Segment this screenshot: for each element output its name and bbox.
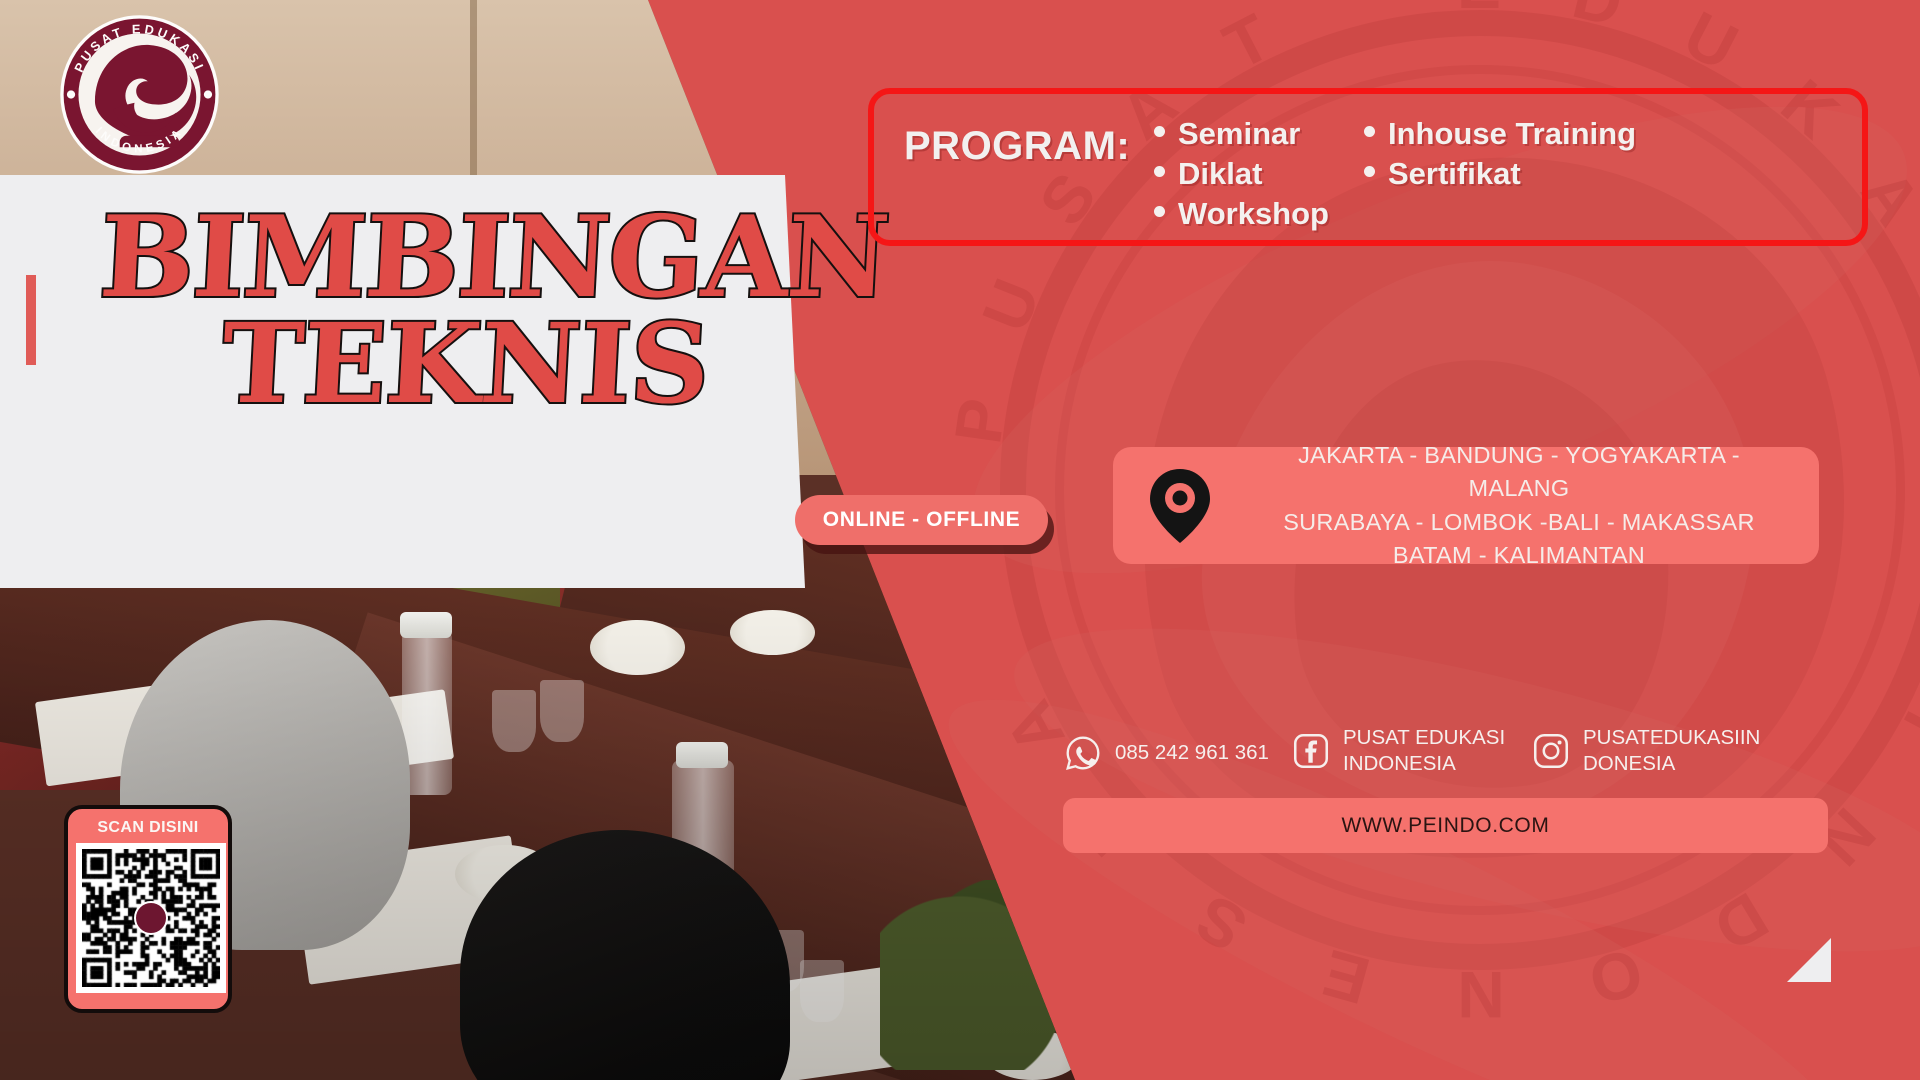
program-label: PROGRAM: [904, 124, 1130, 169]
qr-card[interactable]: SCAN DISINI [64, 805, 232, 1013]
brand-logo: PUSAT EDUKASI INDONESIA [57, 12, 222, 177]
whatsapp-number: 085 242 961 361 [1115, 740, 1269, 766]
bullet-icon [1154, 206, 1165, 217]
instagram-handle-line2: DONESIA [1583, 752, 1675, 775]
program-item-label: Seminar [1178, 118, 1300, 150]
website-url: WWW.PEINDO.COM [1342, 814, 1550, 838]
page-title-line1: BIMBINGAN [97, 205, 890, 310]
contact-whatsapp[interactable]: 085 242 961 361 [1065, 735, 1269, 771]
qr-code[interactable] [76, 843, 226, 993]
locations-card: JAKARTA - BANDUNG - YOGYAKARTA - MALANG … [1113, 447, 1819, 564]
poster-canvas: PUSATEDUKASI INDONESIA BIMBING [0, 0, 1920, 1080]
bullet-icon [1154, 166, 1165, 177]
mode-badge-label: ONLINE - OFFLINE [823, 508, 1020, 532]
facebook-handle-line1: PUSAT EDUKASI [1343, 726, 1505, 749]
program-column-2: Inhouse Training Sertifikat [1364, 118, 1636, 198]
program-item-label: Inhouse Training [1388, 118, 1636, 150]
contacts-row: 085 242 961 361 PUSAT EDUKASI INDONESIA [1065, 725, 1825, 787]
contact-facebook[interactable]: PUSAT EDUKASI INDONESIA [1293, 725, 1505, 777]
locations-text: JAKARTA - BANDUNG - YOGYAKARTA - MALANG … [1245, 439, 1819, 572]
program-item-label: Sertifikat [1388, 158, 1521, 190]
whatsapp-icon [1065, 735, 1101, 771]
contact-instagram[interactable]: PUSATEDUKASIIN DONESIA [1533, 725, 1760, 777]
program-item: Inhouse Training [1364, 118, 1636, 150]
instagram-handle-line1: PUSATEDUKASIIN [1583, 726, 1760, 749]
website-bar[interactable]: WWW.PEINDO.COM [1063, 798, 1828, 853]
facebook-handle-line2: INDONESIA [1343, 752, 1456, 775]
locations-line-2: SURABAYA - LOMBOK -BALI - MAKASSAR [1245, 506, 1793, 539]
location-pin-icon [1141, 467, 1219, 545]
program-item-label: Workshop [1178, 198, 1329, 230]
program-item-label: Diklat [1178, 158, 1262, 190]
instagram-handle: PUSATEDUKASIIN DONESIA [1583, 725, 1760, 777]
facebook-handle: PUSAT EDUKASI INDONESIA [1343, 725, 1505, 777]
locations-line-1: JAKARTA - BANDUNG - YOGYAKARTA - MALANG [1245, 439, 1793, 506]
bullet-icon [1364, 126, 1375, 137]
bullet-icon [1364, 166, 1375, 177]
program-item: Sertifikat [1364, 158, 1636, 190]
locations-line-3: BATAM - KALIMANTAN [1245, 539, 1793, 572]
program-box: PROGRAM: Seminar Diklat Workshop Inhouse… [868, 88, 1868, 246]
program-item: Diklat [1154, 158, 1329, 190]
program-item: Workshop [1154, 198, 1329, 230]
facebook-icon [1293, 733, 1329, 769]
bullet-icon [1154, 126, 1165, 137]
program-item: Seminar [1154, 118, 1329, 150]
mode-badge[interactable]: ONLINE - OFFLINE [795, 495, 1048, 545]
qr-center-logo [134, 901, 168, 935]
instagram-icon [1533, 733, 1569, 769]
program-column-1: Seminar Diklat Workshop [1154, 118, 1329, 239]
title-accent-bar [26, 275, 36, 365]
qr-title: SCAN DISINI [76, 819, 220, 837]
page-title-line2: TEKNIS [219, 312, 711, 415]
